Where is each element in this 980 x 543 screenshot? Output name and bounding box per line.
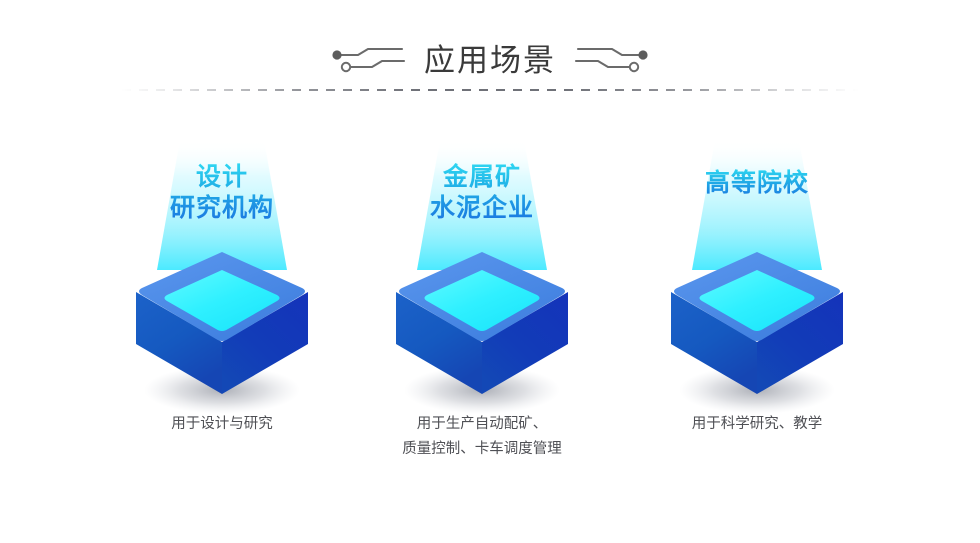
- scenario-caption: 用于设计与研究: [82, 412, 362, 437]
- scenario-card[interactable]: 金属矿 水泥企业: [352, 140, 612, 480]
- scenario-caption: 用于科学研究、教学: [617, 412, 897, 437]
- scenario-card[interactable]: 高等院校: [627, 140, 887, 480]
- scenario-card-list: 设计 研究机构: [0, 0, 980, 543]
- scenario-card[interactable]: 设计 研究机构: [92, 140, 352, 480]
- glowing-cube-icon: [662, 248, 852, 423]
- scenario-caption: 用于生产自动配矿、 质量控制、卡车调度管理: [342, 412, 622, 462]
- glowing-cube-icon: [387, 248, 577, 423]
- glowing-cube-icon: [127, 248, 317, 423]
